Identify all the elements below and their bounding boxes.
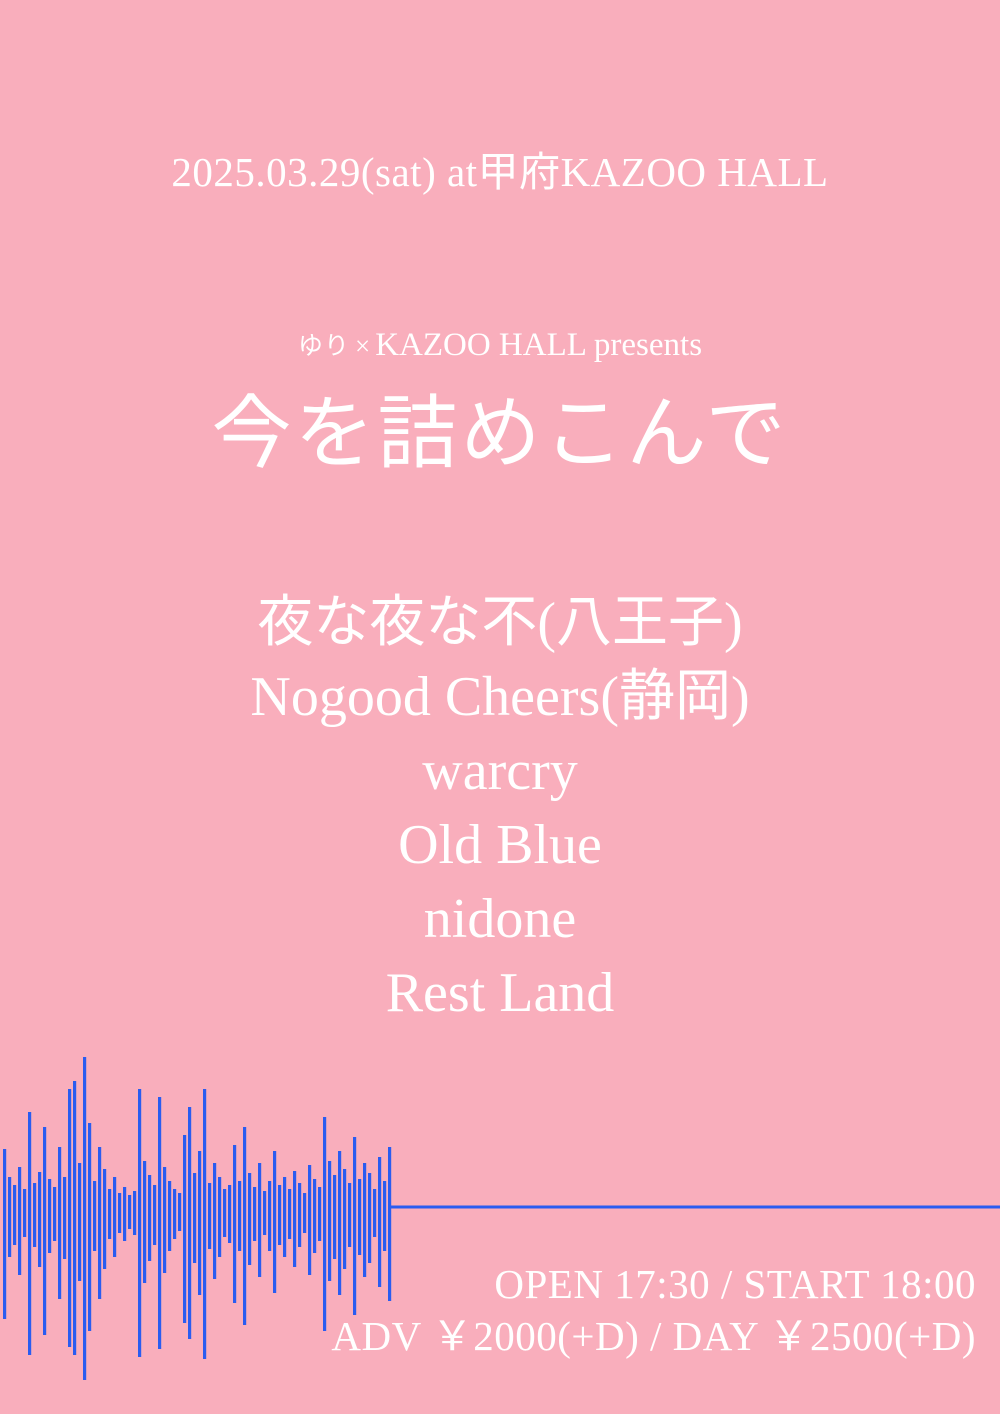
times-icon: × [350,331,375,361]
waveform-bar [173,1189,176,1239]
list-item: nidone [0,882,1000,956]
waveform-bar [103,1169,106,1269]
waveform-bar [313,1179,316,1253]
waveform-bar [23,1189,26,1237]
co-presenter-name: KAZOO HALL presents [375,327,702,363]
waveform-bar [133,1191,136,1235]
waveform-bar [358,1179,361,1255]
waveform-bar [63,1177,66,1259]
waveform-bar [138,1089,141,1357]
waveform-bar [98,1147,101,1299]
waveform-bar [233,1145,236,1303]
waveform-bar [188,1107,191,1339]
waveform-bar [198,1151,201,1295]
waveform-bar [273,1151,276,1293]
waveform-bar [343,1169,346,1269]
open-start-time: OPEN 17:30 / START 18:00 [331,1258,976,1310]
waveform-bar [18,1167,21,1275]
waveform-bar [223,1189,226,1237]
list-item: Rest Land [0,956,1000,1030]
waveform-bar [263,1191,266,1235]
waveform-bar [143,1161,146,1283]
waveform-bar [268,1181,271,1251]
list-item: Nogood Cheers(静岡) [0,660,1000,734]
waveform-bar [373,1189,376,1237]
waveform-bar [178,1193,181,1231]
waveform-bar [213,1163,216,1279]
waveform-bar [43,1127,46,1335]
lineup-list: 夜な夜な不(八王子) Nogood Cheers(静岡) warcry Old … [0,586,1000,1030]
waveform-bar [33,1183,36,1247]
waveform-bar [53,1187,56,1241]
waveform-bar [303,1193,306,1233]
waveform-bar [368,1173,371,1263]
organizer-name: ゆり [298,333,350,360]
waveform-bar [288,1189,291,1239]
waveform-bar [123,1187,126,1241]
waveform-bar [28,1112,31,1355]
waveform-bar [308,1165,311,1275]
waveform-bar [88,1123,91,1331]
waveform-bar [93,1181,96,1251]
waveform-bar [73,1081,76,1355]
presents-byline: ゆり×KAZOO HALL presents [0,325,1000,366]
waveform-bar [163,1167,166,1273]
list-item: 夜な夜な不(八王子) [0,586,1000,660]
waveform-bar [248,1173,251,1265]
waveform-bar [333,1175,336,1259]
ticket-price: ADV ￥2000(+D) / DAY ￥2500(+D) [331,1310,976,1362]
waveform-bar [298,1183,301,1247]
waveform-bar [323,1117,326,1331]
waveform-bar [208,1183,211,1249]
waveform-bar [38,1172,41,1267]
waveform-bar [3,1149,6,1319]
waveform-bar [283,1177,286,1257]
waveform-bar [238,1181,241,1251]
waveform-bar [168,1181,171,1251]
waveform-bar [148,1175,151,1261]
page-title: 今を詰めこんで [0,385,1000,485]
waveform-bar [48,1179,51,1253]
date-venue-line: 2025.03.29(sat) at甲府KAZOO HALL [0,148,1000,197]
waveform-bar [113,1177,116,1257]
waveform-bar [293,1171,296,1267]
waveform-bar [278,1185,281,1245]
waveform-bar [78,1163,81,1281]
event-flyer: 2025.03.29(sat) at甲府KAZOO HALL ゆり×KAZOO … [0,0,1000,1414]
waveform-bar [253,1187,256,1241]
waveform-bar [348,1183,351,1247]
event-details: OPEN 17:30 / START 18:00 ADV ￥2000(+D) /… [331,1258,976,1362]
waveform-bar [158,1097,161,1349]
waveform-bar [153,1185,156,1245]
waveform-bar [13,1185,16,1245]
waveform-bar [58,1147,61,1299]
waveform-bar [203,1089,206,1359]
waveform-bar [218,1177,221,1257]
waveform-bar [383,1181,386,1251]
waveform-bar [128,1195,131,1229]
waveform-bar [68,1089,71,1347]
list-item: warcry [0,734,1000,808]
waveform-bar [193,1173,196,1263]
waveform-bar [183,1135,186,1323]
waveform-bar [118,1193,121,1233]
waveform-bar [228,1185,231,1243]
waveform-bar [258,1163,261,1277]
waveform-bar [83,1057,86,1380]
waveform-bar [8,1177,11,1257]
waveform-bar [108,1189,111,1239]
list-item: Old Blue [0,808,1000,882]
waveform-bar [318,1187,321,1241]
waveform-bar [243,1127,246,1325]
